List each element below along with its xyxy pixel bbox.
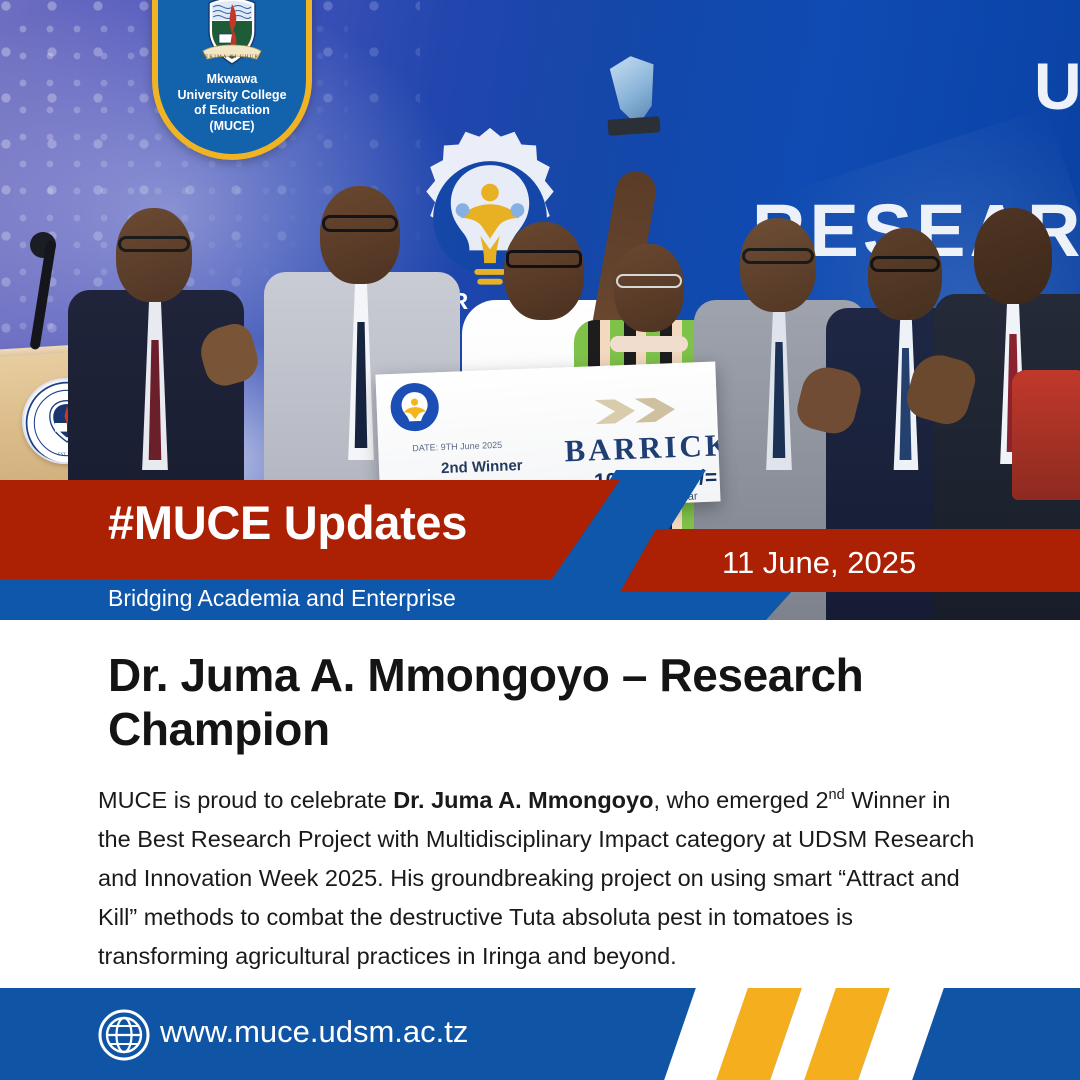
red-chair [1012,370,1080,500]
cheque-date: DATE: 9TH June 2025 [412,440,502,453]
poster-canvas: 10TH R NOVAT RESEARCH U D Inn EST. 1961 [0,0,1080,1080]
muce-logo-line-1: Mkwawa [164,72,300,88]
muce-shield-logo: HEKIMA NI UHURU Mkwawa University Colleg… [152,0,312,160]
cheque-brand: BARRICK [564,427,721,469]
muce-logo-line-3: of Education [164,103,300,119]
banner-title: #MUCE Updates [108,495,467,550]
university-crest-icon: HEKIMA NI UHURU [199,0,265,68]
barrick-chevron-icon [588,393,681,427]
muce-logo-line-2: University College [164,88,300,104]
muce-logo-text: Mkwawa University College of Education (… [158,72,306,134]
cheque-payee: 2nd Winner [441,457,523,477]
svg-text:HEKIMA NI UHURU: HEKIMA NI UHURU [200,54,264,60]
muce-logo-line-4: (MUCE) [164,119,300,135]
footer-website-url[interactable]: www.muce.udsm.ac.tz [160,1014,468,1050]
banner-subtitle: Bridging Academia and Enterprise [108,585,456,612]
footer-bar: www.muce.udsm.ac.tz [0,988,1080,1080]
globe-icon [98,1009,150,1061]
date-text: 11 June, 2025 [722,545,916,581]
article-headline: Dr. Juma A. Mmongoyo – Research Champion [108,648,898,756]
article-section: Dr. Juma A. Mmongoyo – Research Champion… [0,620,1080,988]
cheque-event-logo-icon [390,382,440,432]
footer-stripes [660,988,1080,1080]
article-body: MUCE is proud to celebrate Dr. Juma A. M… [98,776,988,976]
